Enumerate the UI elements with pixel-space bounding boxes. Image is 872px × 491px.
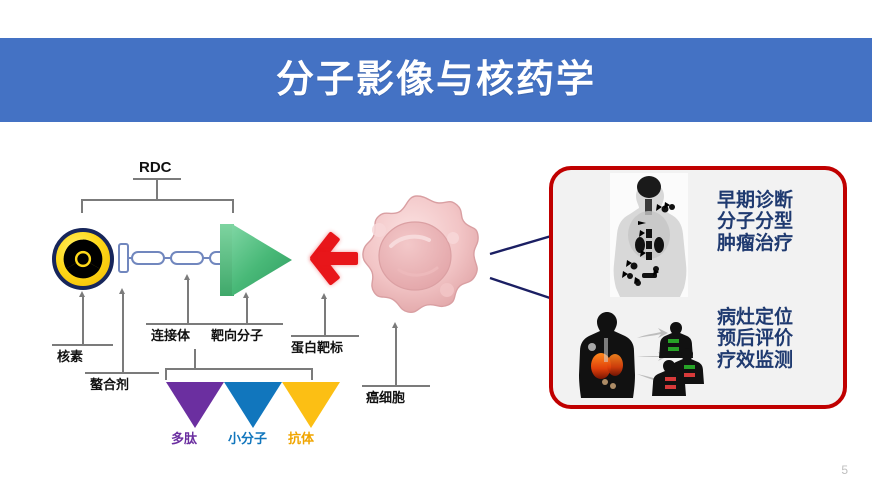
label-small-molecule: 小分子: [228, 428, 267, 447]
small-molecule-triangle-icon: [224, 382, 282, 428]
cancer-cell-icon: [349, 190, 485, 326]
leader-line-protein: [324, 298, 326, 335]
leader-underline-protein: [291, 335, 359, 337]
title-banner: 分子影像与核药学: [0, 38, 872, 122]
leader-underline-cell: [362, 385, 430, 387]
label-antibody: 抗体: [288, 428, 314, 447]
radioactive-icon: [52, 228, 114, 290]
green-triangle-icon: [220, 224, 292, 296]
rdc-right-leg: [232, 199, 234, 213]
leader-line-linker: [187, 279, 189, 323]
antibody-triangle-icon: [282, 382, 340, 428]
label-cancer-cell: 癌细胞: [366, 391, 405, 404]
pet-scan-image: [610, 173, 688, 297]
leader-line-targeting: [246, 297, 248, 323]
slide-number: 5: [841, 463, 848, 477]
results-lower-line-1: 病灶定位: [717, 307, 793, 328]
results-lower-text: 病灶定位 预后评价 疗效监测: [717, 307, 793, 371]
rdc-span-line: [81, 199, 233, 201]
leader-line-cell: [395, 327, 397, 385]
results-upper-line-3: 肿瘤治疗: [717, 233, 793, 254]
rdc-stem-line: [156, 178, 158, 200]
label-peptide: 多肽: [171, 428, 197, 447]
label-nuclide: 核素: [57, 350, 83, 363]
leader-underline-chelator: [85, 372, 159, 374]
rdc-bracket-label: RDC: [139, 160, 172, 175]
chain-link-icon: [131, 251, 165, 265]
label-linker: 连接体: [151, 329, 190, 342]
rdc-left-leg: [81, 199, 83, 213]
results-lower-line-2: 预后评价: [717, 328, 793, 349]
page-title: 分子影像与核药学: [276, 61, 596, 99]
peptide-triangle-icon: [166, 382, 224, 428]
subtype-left-leg: [165, 368, 167, 380]
subtype-stem-line: [194, 349, 196, 368]
subtype-span-line: [165, 368, 313, 370]
results-upper-line-1: 早期诊断: [717, 190, 793, 211]
leader-line-nuclide: [82, 296, 84, 344]
green-triangle-side: [220, 224, 234, 296]
label-chelator: 螯合剂: [90, 378, 129, 391]
results-lower-line-3: 疗效监测: [717, 350, 793, 371]
label-protein-target: 蛋白靶标: [291, 341, 343, 354]
results-upper-line-2: 分子分型: [717, 211, 793, 232]
leader-line-chelator: [122, 293, 124, 372]
chain-link-icon: [170, 251, 204, 265]
slide-canvas: 分子影像与核药学 RDC: [0, 0, 872, 491]
subtype-right-leg: [311, 368, 313, 380]
leader-underline-targeting: [211, 323, 283, 325]
trefoil-symbol: [56, 232, 110, 286]
results-upper-text: 早期诊断 分子分型 肿瘤治疗: [717, 190, 793, 254]
body-silhouette-image: [575, 308, 705, 402]
label-targeting-molecule: 靶向分子: [211, 329, 263, 342]
leader-underline-nuclide: [52, 344, 113, 346]
green-triangle-face: [232, 224, 292, 296]
